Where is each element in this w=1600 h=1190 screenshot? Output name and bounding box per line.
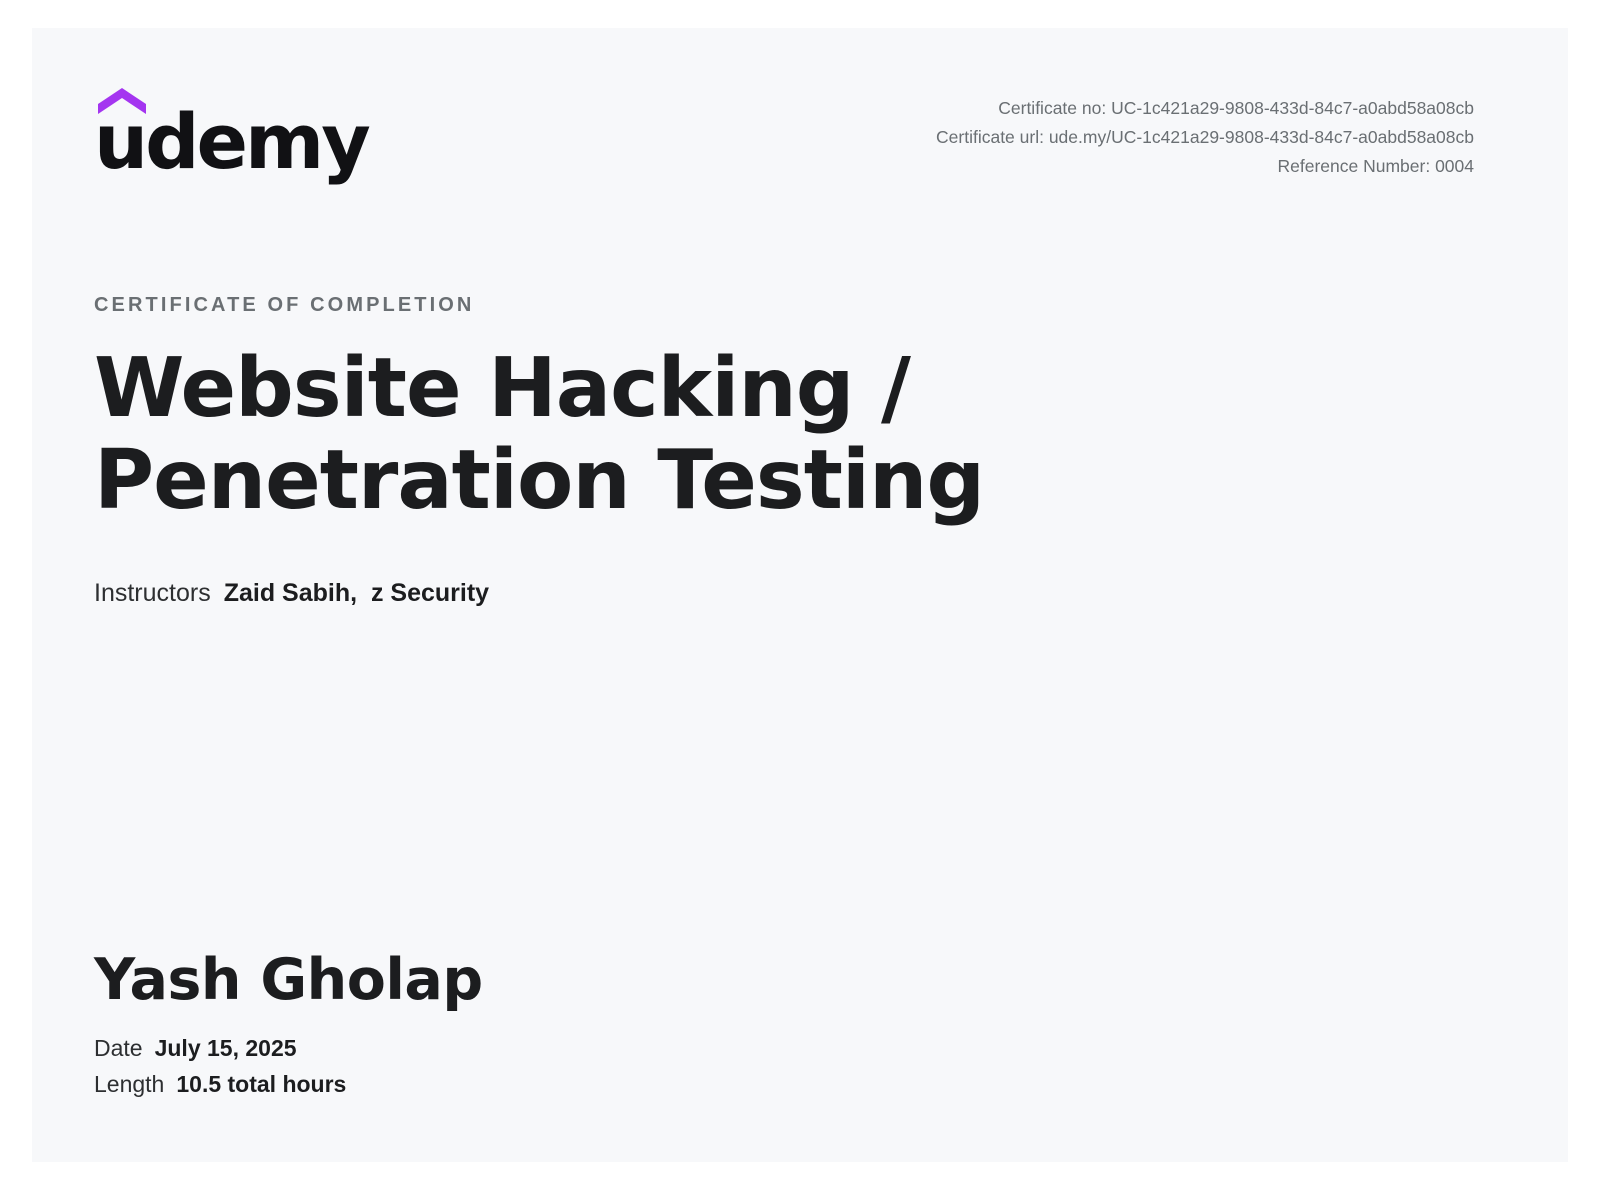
udemy-wordmark: udemy — [94, 104, 368, 180]
certificate-body: CERTIFICATE OF COMPLETION Website Hackin… — [94, 293, 1506, 609]
date-row: DateJuly 15, 2025 — [94, 1030, 483, 1066]
certificate-panel: udemy Certificate no: UC-1c421a29-9808-4… — [32, 28, 1568, 1162]
instructors-label: Instructors — [94, 579, 211, 607]
instructors-row: InstructorsZaid Sabih, z Security — [94, 577, 1506, 610]
certificate-footer: Yash Gholap DateJuly 15, 2025 Length10.5… — [94, 949, 483, 1102]
instructors-names: Zaid Sabih, z Security — [224, 579, 489, 607]
date-value: July 15, 2025 — [155, 1035, 297, 1061]
date-label: Date — [94, 1035, 143, 1061]
course-title-line-1: Website Hacking / — [94, 341, 910, 436]
length-label: Length — [94, 1071, 164, 1097]
length-row: Length10.5 total hours — [94, 1066, 483, 1102]
certificate-url[interactable]: Certificate url: ude.my/UC-1c421a29-9808… — [936, 123, 1474, 152]
udemy-logo: udemy — [94, 88, 354, 188]
certificate-eyebrow: CERTIFICATE OF COMPLETION — [94, 293, 1506, 317]
length-value: 10.5 total hours — [176, 1071, 346, 1097]
course-title-line-2: Penetration Testing — [94, 433, 984, 528]
certificate-metadata: Certificate no: UC-1c421a29-9808-433d-84… — [936, 94, 1474, 181]
certificate-header: udemy Certificate no: UC-1c421a29-9808-4… — [32, 28, 1568, 208]
certificate-number: Certificate no: UC-1c421a29-9808-433d-84… — [936, 94, 1474, 123]
course-title: Website Hacking / Penetration Testing — [94, 343, 1094, 527]
recipient-name: Yash Gholap — [94, 949, 483, 1012]
reference-number: Reference Number: 0004 — [936, 152, 1474, 181]
